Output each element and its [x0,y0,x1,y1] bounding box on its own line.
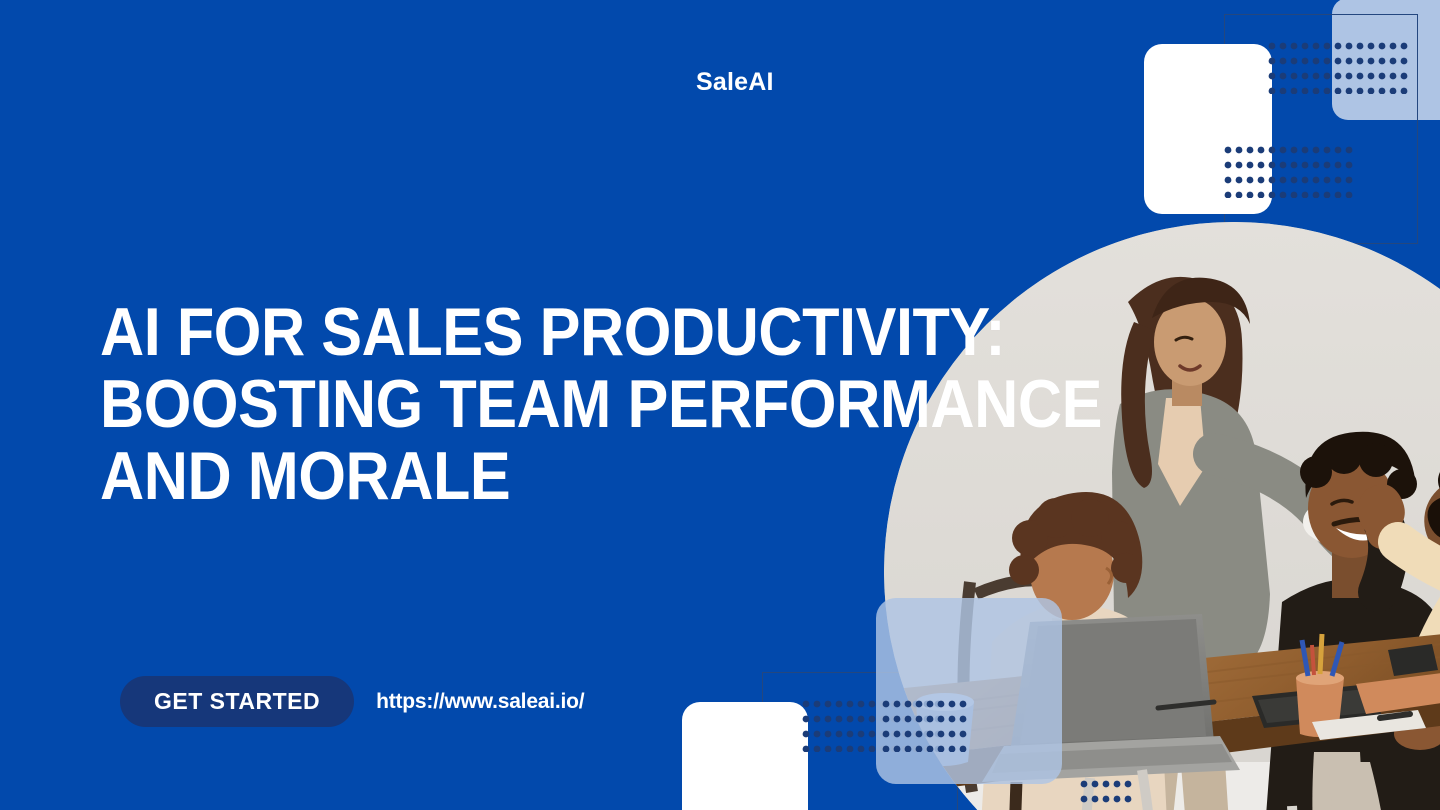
dot-grid-icon-top-right [1268,42,1418,94]
get-started-button[interactable]: GET STARTED [120,676,354,727]
headline-line-2: BOOSTING TEAM PERFORMANCE [100,368,1000,440]
dot-grid-icon-top-right-lower [1224,146,1364,198]
headline-line-1: AI FOR SALES PRODUCTIVITY: [100,296,1000,368]
lightblue-rounded-rect-bottom [876,598,1062,784]
website-url[interactable]: https://www.saleai.io/ [376,690,584,714]
cta-row: GET STARTED https://www.saleai.io/ [120,676,584,727]
white-rounded-rect-bottom-left [682,702,808,810]
dot-grid-icon-bottom-overlay [882,700,1012,752]
dot-grid-icon-bottom-right [1080,780,1140,806]
headline-line-3: AND MORALE [100,440,1000,512]
banner-canvas: SaleAI AI FOR SALES PRODUCTIVITY: BOOSTI… [0,0,1440,810]
brand-logo[interactable]: SaleAI [696,68,774,97]
page-title: AI FOR SALES PRODUCTIVITY: BOOSTING TEAM… [100,296,1000,512]
